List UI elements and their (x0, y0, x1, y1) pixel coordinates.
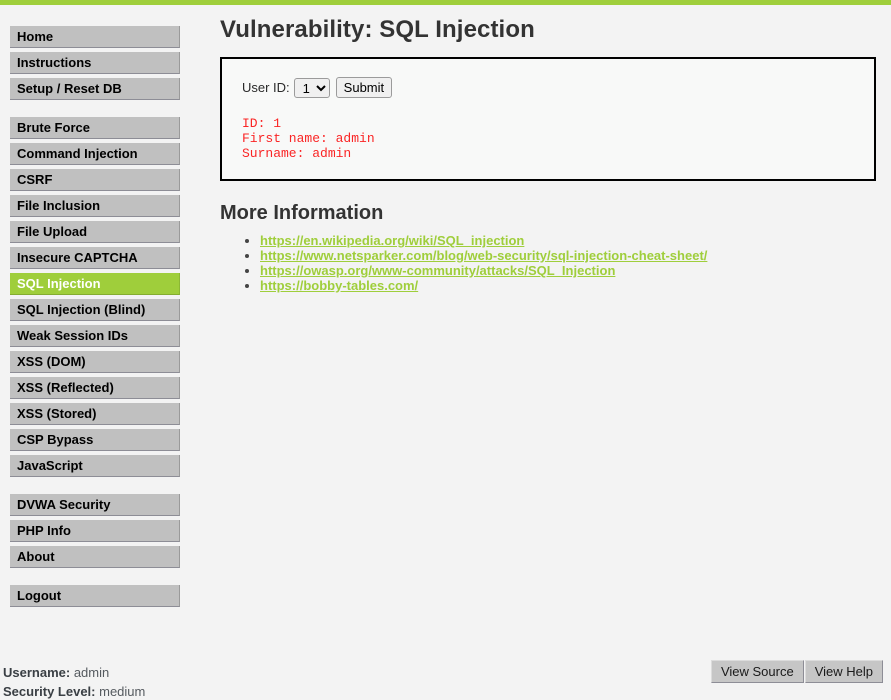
sidebar-item-xss-dom[interactable]: XSS (DOM) (10, 351, 180, 373)
footer-username-row: Username: admin (3, 663, 145, 682)
more-information-link[interactable]: https://owasp.org/www-community/attacks/… (260, 263, 615, 278)
list-item: https://www.netsparker.com/blog/web-secu… (260, 248, 880, 263)
sidebar-item-setup-reset-db[interactable]: Setup / Reset DB (10, 78, 180, 100)
query-result-line: Surname: admin (242, 146, 854, 161)
footer-security-level-value: medium (99, 684, 145, 699)
sidebar-item-php-info[interactable]: PHP Info (10, 520, 180, 542)
query-result-line: ID: 1 (242, 116, 854, 131)
sidebar-group: Logout (10, 585, 180, 607)
sidebar-item-dvwa-security[interactable]: DVWA Security (10, 494, 180, 516)
footer-username-value: admin (74, 665, 109, 680)
sidebar-item-sql-injection[interactable]: SQL Injection (10, 273, 180, 295)
sidebar-item-brute-force[interactable]: Brute Force (10, 117, 180, 139)
more-information-link[interactable]: https://bobby-tables.com/ (260, 278, 418, 293)
page-title: Vulnerability: SQL Injection (220, 8, 880, 52)
query-result: ID: 1First name: adminSurname: admin (242, 116, 854, 161)
footer-buttons: View Source View Help (711, 660, 883, 683)
sidebar-item-sql-injection-blind[interactable]: SQL Injection (Blind) (10, 299, 180, 321)
sidebar-item-xss-stored[interactable]: XSS (Stored) (10, 403, 180, 425)
submit-button[interactable]: Submit (336, 77, 392, 98)
more-information-link[interactable]: https://www.netsparker.com/blog/web-secu… (260, 248, 707, 263)
footer-security-level-row: Security Level: medium (3, 682, 145, 700)
list-item: https://bobby-tables.com/ (260, 278, 880, 293)
more-information-heading: More Information (220, 197, 880, 229)
sidebar-item-about[interactable]: About (10, 546, 180, 568)
footer-session-info: Username: admin Security Level: medium L… (3, 663, 145, 700)
footer-security-level-label: Security Level: (3, 684, 96, 699)
user-id-select[interactable]: 12345 (294, 78, 330, 98)
sidebar-navigation: HomeInstructionsSetup / Reset DBBrute Fo… (10, 26, 180, 624)
view-source-button[interactable]: View Source (711, 660, 804, 683)
sidebar-item-file-inclusion[interactable]: File Inclusion (10, 195, 180, 217)
footer-username-label: Username: (3, 665, 70, 680)
sidebar-item-xss-reflected[interactable]: XSS (Reflected) (10, 377, 180, 399)
user-id-form: User ID: 12345 Submit (242, 77, 854, 98)
sidebar-item-command-injection[interactable]: Command Injection (10, 143, 180, 165)
sidebar-item-insecure-captcha[interactable]: Insecure CAPTCHA (10, 247, 180, 269)
more-information-links: https://en.wikipedia.org/wiki/SQL_inject… (220, 233, 880, 293)
sidebar-group: HomeInstructionsSetup / Reset DB (10, 26, 180, 100)
sidebar-item-logout[interactable]: Logout (10, 585, 180, 607)
sidebar-item-instructions[interactable]: Instructions (10, 52, 180, 74)
sidebar-group: DVWA SecurityPHP InfoAbout (10, 494, 180, 568)
page-footer: Username: admin Security Level: medium L… (0, 655, 891, 700)
dvwa-page: HomeInstructionsSetup / Reset DBBrute Fo… (0, 0, 891, 700)
more-information-link[interactable]: https://en.wikipedia.org/wiki/SQL_inject… (260, 233, 524, 248)
list-item: https://en.wikipedia.org/wiki/SQL_inject… (260, 233, 880, 248)
top-accent-bar (0, 0, 891, 5)
list-item: https://owasp.org/www-community/attacks/… (260, 263, 880, 278)
sidebar-item-file-upload[interactable]: File Upload (10, 221, 180, 243)
sidebar-item-csrf[interactable]: CSRF (10, 169, 180, 191)
sidebar-item-csp-bypass[interactable]: CSP Bypass (10, 429, 180, 451)
view-help-button[interactable]: View Help (805, 660, 883, 683)
sidebar-group: Brute ForceCommand InjectionCSRFFile Inc… (10, 117, 180, 477)
main-content: Vulnerability: SQL Injection User ID: 12… (220, 8, 880, 293)
sidebar-item-weak-session-ids[interactable]: Weak Session IDs (10, 325, 180, 347)
user-id-label: User ID: (242, 80, 290, 95)
vulnerability-panel: User ID: 12345 Submit ID: 1First name: a… (220, 57, 876, 181)
query-result-line: First name: admin (242, 131, 854, 146)
sidebar-item-home[interactable]: Home (10, 26, 180, 48)
sidebar-item-javascript[interactable]: JavaScript (10, 455, 180, 477)
